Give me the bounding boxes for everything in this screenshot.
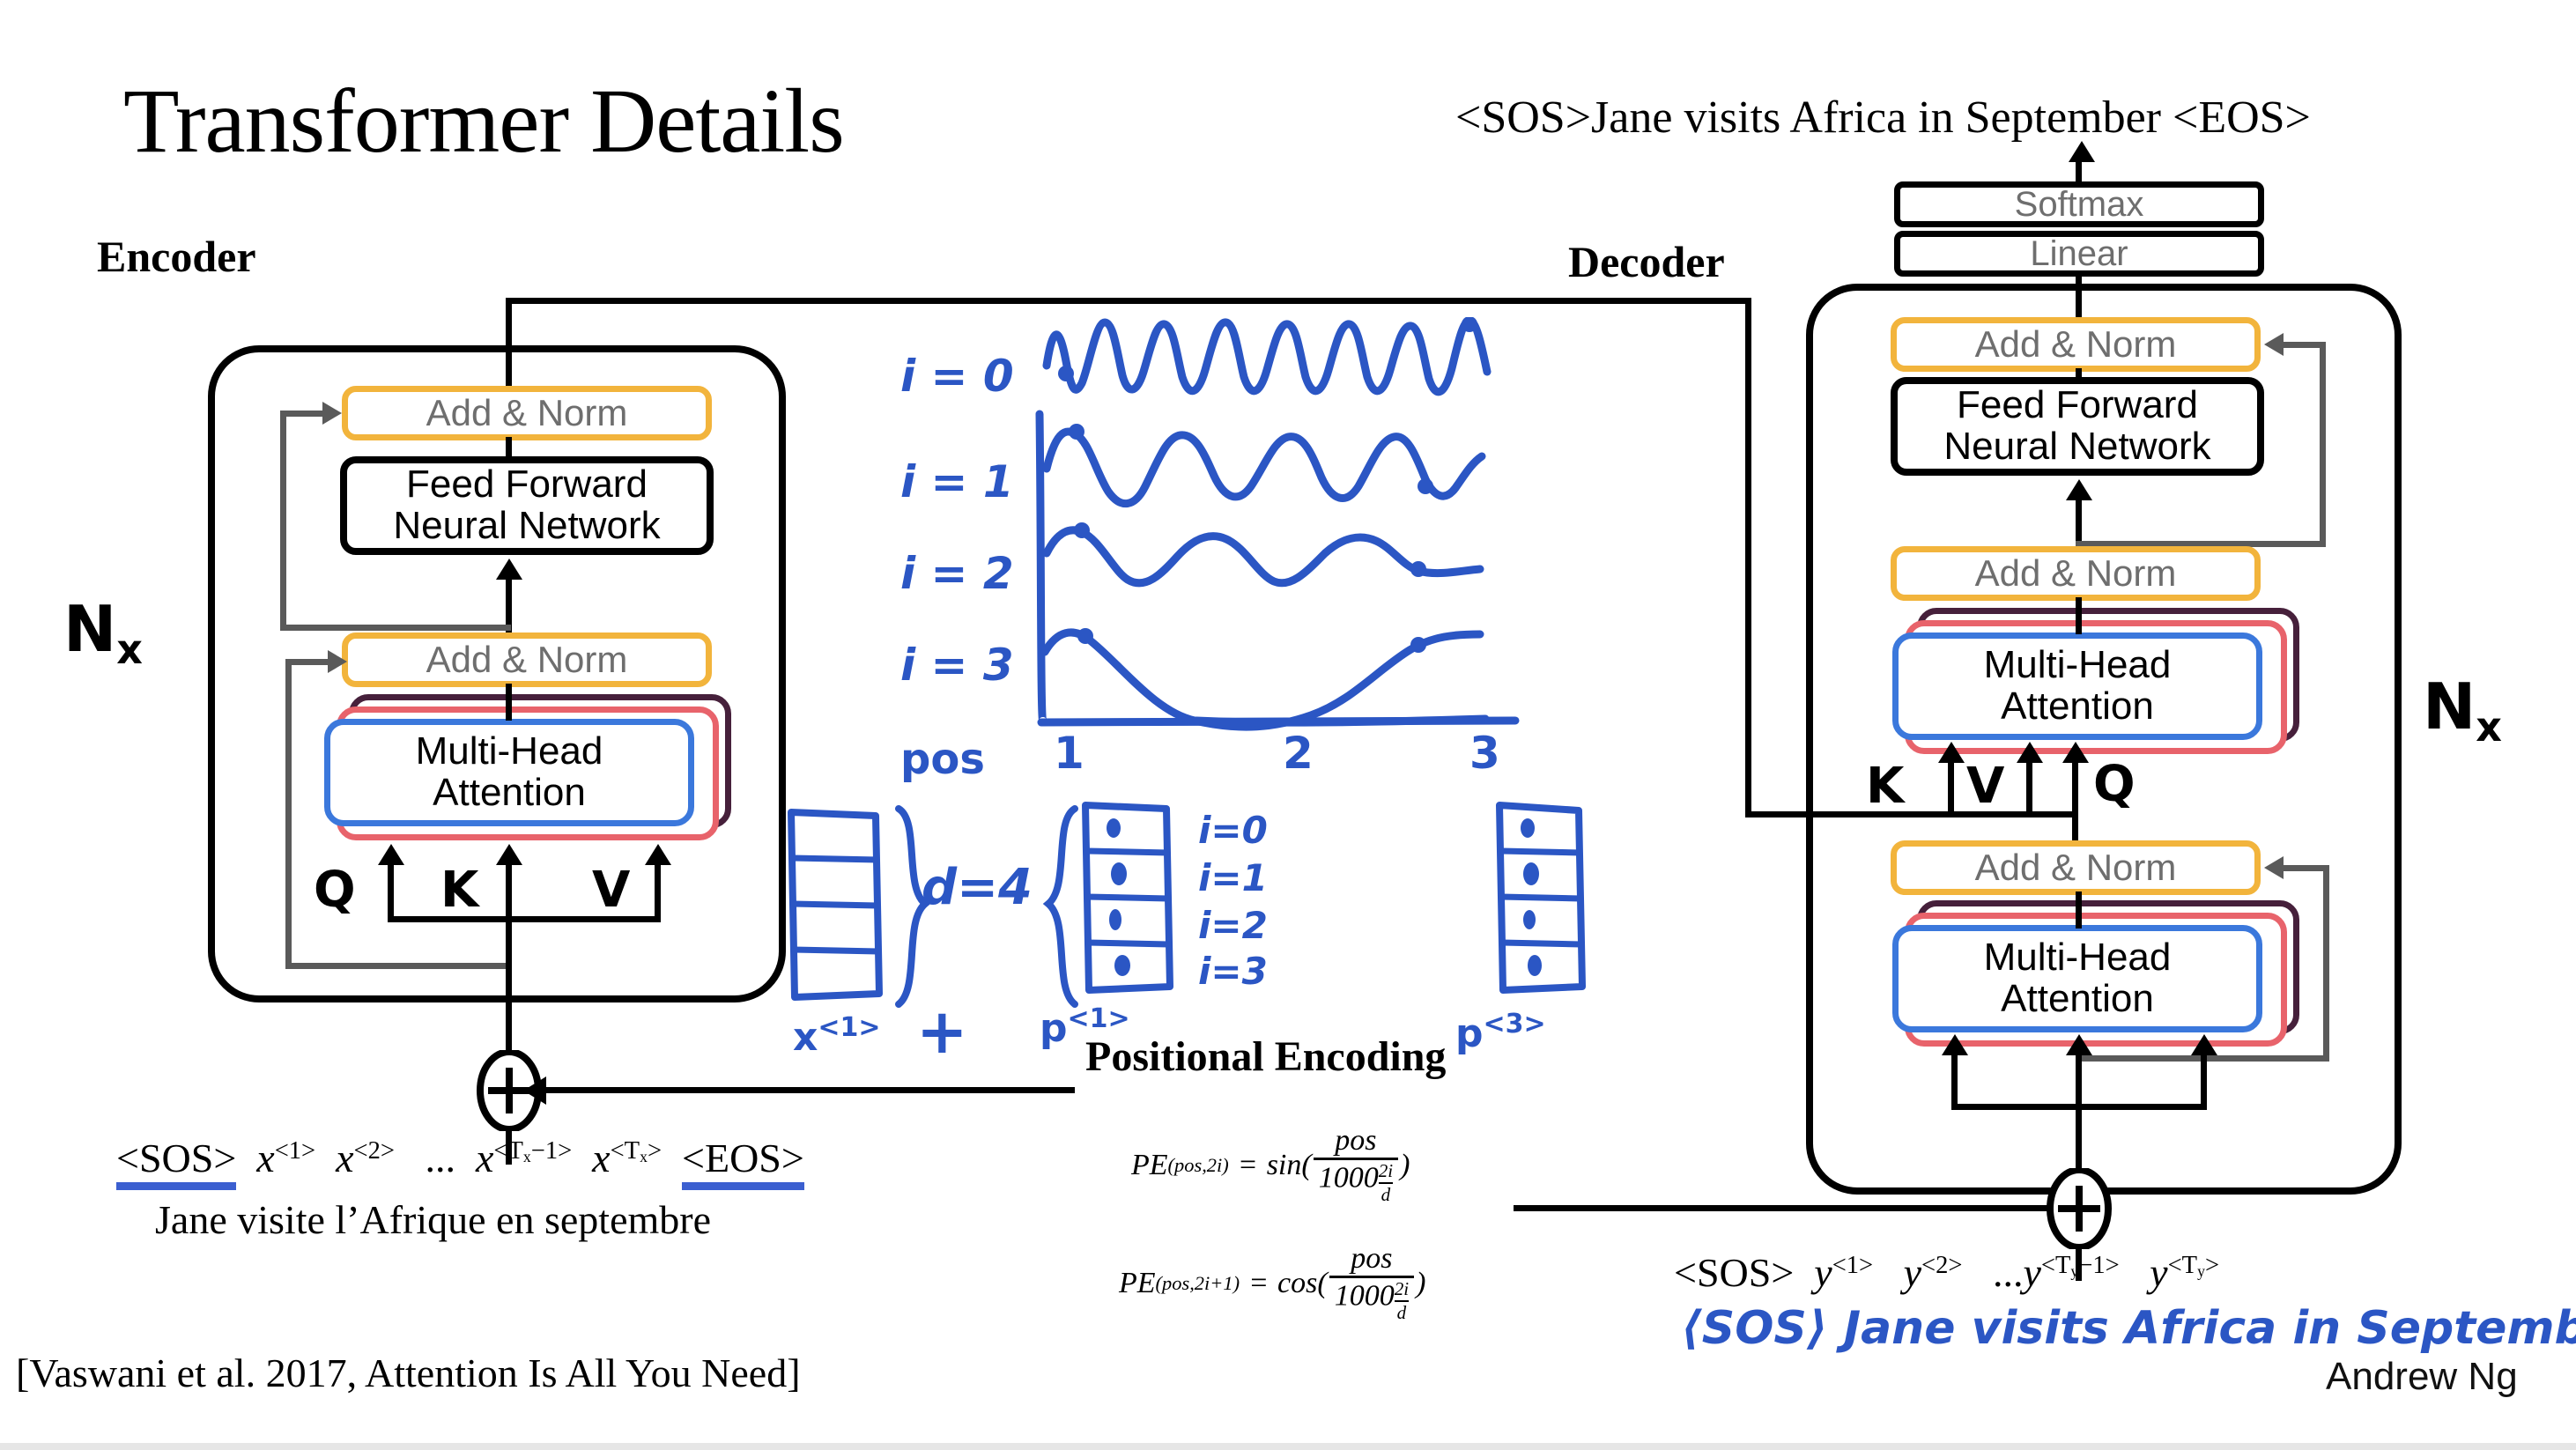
encoder-ellipsis: ... [425,1136,455,1180]
pe-formula-2-eq: = [1240,1267,1277,1300]
decoder-bottom-v-line [2201,1055,2207,1106]
decoder-ffn-line1: Feed Forward [1957,385,2198,426]
encoder-to-decoder-vline [1745,298,1751,817]
decoder-linear-label: Linear [2030,235,2128,272]
pe-axis-label: pos [900,735,985,784]
encoder-xtm1-tail: −1> [531,1137,572,1165]
encoder-mha-line1: Multi-Head [416,731,603,773]
encoder-k-arrow [496,844,522,865]
decoder-ffn-in-arrow [2066,479,2092,500]
decoder-repeat-x: x [2476,703,2502,751]
decoder-bottom-v-arrow [2191,1034,2217,1055]
pe-formula-2-den: 10002id [1329,1278,1414,1324]
pe-p3-term: p<3> [1455,1011,1546,1056]
encoder-skip-bottom-hline [285,963,507,969]
decoder-y2: y [1904,1250,1921,1295]
decoder-skip-mid-arrow [2264,856,2284,879]
encoder-v-line [655,865,661,918]
pe-formula-1-lhs: PE [1131,1149,1168,1182]
decoder-skip-top-vline [2320,342,2326,547]
decoder-bottom-k-arrow [2066,1034,2092,1055]
pe-formula-1-exp-den: d [1381,1184,1391,1206]
decoder-skip-mid-vline [2323,865,2329,1062]
encoder-add-norm-top-label: Add & Norm [426,394,628,433]
decoder-ffn-line2: Neural Network [1943,426,2210,468]
decoder-add-norm-bottom: Add & Norm [1891,840,2261,895]
pe-p3-sup: <3> [1484,1009,1546,1039]
pe-sum-plus: + [916,995,968,1068]
decoder-k-label: K [1866,758,1904,815]
decoder-ytm1-sup: <T [2041,1252,2071,1279]
pe-p3: p [1455,1011,1484,1056]
decoder-v-arrow [2017,742,2043,763]
decoder-add-norm-bottom-label: Add & Norm [1975,848,2177,888]
decoder-ytm1-tail: −1> [2078,1252,2119,1279]
pe-vector-index-1: i=1 [1198,856,1268,899]
encoder-ffn-line1: Feed Forward [406,464,648,506]
encoder-xt-tail: > [648,1137,662,1165]
decoder-bottom-q-line [1951,1055,1958,1106]
decoder-k-line [1948,763,1954,814]
encoder-q-label: Q [314,862,356,919]
encoder-mha-line2: Attention [433,773,586,814]
encoder-ffn-line2: Neural Network [393,506,660,547]
pe-formula-1-fn: sin [1267,1149,1302,1182]
encoder-multi-head-attention: Multi-Head Attention [324,719,694,826]
decoder-output-sentence: <SOS>Jane visits Africa in September <EO… [1455,92,2311,144]
pe-formula-1-num: pos [1329,1124,1381,1158]
decoder-ffn-to-addnorm [2076,368,2082,382]
positional-vector-p1 [1073,798,1188,1001]
encoder-v-arrow [645,844,671,865]
pe-formula-2-lhs: PE [1119,1267,1156,1300]
pe-sum-p: p [1040,1006,1068,1051]
decoder-heading: Decoder [1568,236,1725,287]
pe-formula-1-eq: = [1229,1149,1267,1182]
encoder-xtm1-sub: x [523,1148,531,1165]
decoder-q-arrow [2062,742,2089,763]
pe-label-i3: i = 3 [900,640,1014,691]
encoder-q-arrow [378,844,404,865]
decoder-v-label: V [1966,758,2004,815]
encoder-sos-token: <SOS> [116,1136,236,1190]
pe-formula-2-num: pos [1345,1242,1397,1276]
encoder-main-vline-top [506,437,512,460]
bottom-divider [0,1443,2576,1450]
pe-sum-p-sup: <1> [1068,1003,1130,1034]
decoder-y1-sup: <1> [1832,1252,1873,1279]
decoder-ytm1: y [2023,1250,2040,1295]
decoder-add-norm-mid-label: Add & Norm [1975,554,2177,594]
pe-formula-2-fn: cos [1277,1267,1317,1300]
encoder-repeat-n: N [63,592,116,666]
decoder-mha-bottom-to-addnorm [2076,891,2082,928]
decoder-multi-head-attention-mid: Multi-Head Attention [1892,633,2262,740]
page-title: Transformer Details [123,69,844,174]
decoder-skip-top-arrow [2264,333,2284,356]
pe-to-encoder-line [543,1087,1075,1093]
decoder-yt-tail: > [2205,1252,2219,1279]
pe-formula-1-exp-num: 2i [1379,1160,1393,1182]
encoder-k-line [506,865,512,1024]
encoder-to-decoder-hline [506,298,1751,304]
encoder-add-norm-bottom-label: Add & Norm [426,640,628,680]
encoder-skip-bottom-vline [285,659,292,969]
slide-canvas: Transformer Details Encoder Decoder Nx A… [0,0,2576,1450]
encoder-skip-top-arrowline [280,411,324,417]
decoder-y1: y [1814,1250,1832,1295]
decoder-mha-mid-line1: Multi-Head [1984,645,2172,686]
encoder-add-norm-top: Add & Norm [342,386,712,440]
encoder-xt: x [592,1136,610,1180]
pe-sum-x: x [793,1015,818,1060]
embedding-vector-x1 [781,803,895,1006]
pe-formula-1-sub: (pos,2i) [1168,1154,1229,1177]
pe-tick-1: 1 [1054,728,1084,779]
decoder-softmax: Softmax [1894,181,2264,227]
encoder-skip-top-vline [280,412,286,631]
decoder-yt: y [2150,1250,2167,1295]
decoder-k-arrow [1938,742,1965,763]
pe-to-decoder-line [1514,1205,2054,1211]
encoder-feed-forward: Feed Forward Neural Network [340,456,714,555]
pe-to-encoder-arrow [523,1076,546,1105]
pe-tick-3: 3 [1469,728,1500,779]
dimension-label: d=4 [922,859,1033,916]
decoder-skip-mid-arrowline [2284,865,2329,871]
decoder-softmax-label: Softmax [2015,186,2144,223]
pe-formula-2-fraction: pos 10002id [1329,1242,1414,1324]
encoder-repeat-x: x [116,625,143,673]
encoder-input-sequence: <SOS> x<1> x<2> ... x<Tx−1> x<Tx> <EOS> [116,1135,804,1181]
encoder-mha-to-addnorm [506,684,512,721]
decoder-mha-bottom-line1: Multi-Head [1984,937,2172,979]
decoder-bottom-q-arrow [1942,1034,1968,1055]
encoder-xt-sub: x [640,1148,648,1165]
pe-label-i1: i = 1 [900,456,1014,507]
encoder-repeat-label: Nx [63,592,143,666]
decoder-multi-head-attention-bottom: Multi-Head Attention [1892,925,2262,1032]
decoder-q-label: Q [2093,756,2136,813]
decoder-y2-sup: <2> [1921,1252,1962,1279]
positional-encoding-chart [1004,317,1639,775]
author-name: Andrew Ng [2326,1355,2518,1399]
decoder-ellipsis: ... [1993,1250,2024,1295]
decoder-ytm1-sub: y [2070,1262,2078,1280]
pe-label-i2: i = 2 [900,548,1014,599]
positional-vector-p3 [1485,798,1600,1001]
encoder-skip-top-hline [280,625,511,631]
encoder-v-label: V [592,862,630,919]
encoder-x1: x [256,1136,274,1180]
encoder-xtm1: x [476,1136,493,1180]
decoder-yt-sub: y [2197,1262,2205,1280]
encoder-add-norm-bottom: Add & Norm [342,633,712,687]
citation-text: [Vaswani et al. 2017, Attention Is All Y… [16,1350,801,1396]
pe-formula-1-den: 10002id [1314,1160,1398,1206]
decoder-input-sequence: <SOS> y<1> y<2> ...y<Ty−1> y<Ty> [1674,1249,2219,1296]
decoder-skip-top-arrowline [2284,342,2326,348]
pe-sum-x-sup: <1> [818,1012,880,1043]
encoder-xtm1-sup: <T [493,1137,523,1165]
decoder-sum-node [2044,1168,2114,1249]
decoder-handwritten-input: ⟨SOS⟩ Jane visits Africa in September [1681,1302,2576,1355]
encoder-skip-bottom-arrow [328,650,347,673]
decoder-repeat-label: Nx [2423,670,2502,743]
encoder-q-line [388,865,394,918]
pe-formula-2-sub: (pos,2i+1) [1156,1272,1240,1295]
decoder-mha-mid-to-addnorm [2076,597,2082,634]
pe-formula-2-exp-den: d [1397,1302,1407,1324]
decoder-mha-bottom-line2: Attention [2001,979,2154,1020]
encoder-x1-sup: <1> [275,1137,315,1165]
decoder-repeat-n: N [2423,670,2476,743]
decoder-add-norm-top: Add & Norm [1891,317,2261,372]
pe-vector-index-3: i=3 [1198,950,1268,993]
pe-tick-2: 2 [1283,728,1314,779]
pe-label-i0: i = 0 [900,351,1014,402]
pe-formula-1-fraction: pos 10002id [1314,1124,1398,1206]
encoder-k-label: K [440,862,478,919]
pe-formula-2-base: 1000 [1335,1280,1395,1313]
encoder-ffn-input-arrow [496,559,522,580]
decoder-feed-forward: Feed Forward Neural Network [1891,377,2264,476]
encoder-skip-bottom-arrowline [285,659,329,665]
decoder-yt-sup: <T [2168,1252,2198,1279]
decoder-add-norm-mid: Add & Norm [1891,546,2261,601]
encoder-skip-top-arrow [322,402,342,425]
decoder-ffn-in-line [2076,500,2082,546]
decoder-mha-mid-line2: Attention [2001,686,2154,728]
encoder-heading: Encoder [97,231,256,282]
pe-vector-index-2: i=2 [1198,904,1268,947]
decoder-linear: Linear [1894,231,2264,277]
encoder-x2-sup: <2> [354,1137,395,1165]
decoder-v-line [2026,763,2032,814]
positional-encoding-heading: Positional Encoding [1085,1032,1446,1081]
pe-formula-2-exp-num: 2i [1395,1278,1409,1300]
pe-formula-2: PE(pos,2i+1) = cos( pos 10002id ) [1119,1242,1425,1324]
decoder-sos-token: <SOS> [1674,1250,1794,1295]
decoder-output-arrow [2069,141,2095,162]
encoder-x2: x [336,1136,353,1180]
pe-formula-1-base: 1000 [1319,1162,1379,1195]
encoder-eos-token: <EOS> [682,1136,804,1190]
encoder-xt-sup: <T [611,1137,640,1165]
pe-vector-index-0: i=0 [1198,809,1268,852]
pe-formula-1: PE(pos,2i) = sin( pos 10002id ) [1131,1124,1410,1206]
pe-sum-x-term: x<1> [793,1015,881,1060]
decoder-add-norm-top-label: Add & Norm [1975,325,2177,365]
encoder-input-sentence: Jane visite l’Afrique en septembre [155,1196,711,1243]
